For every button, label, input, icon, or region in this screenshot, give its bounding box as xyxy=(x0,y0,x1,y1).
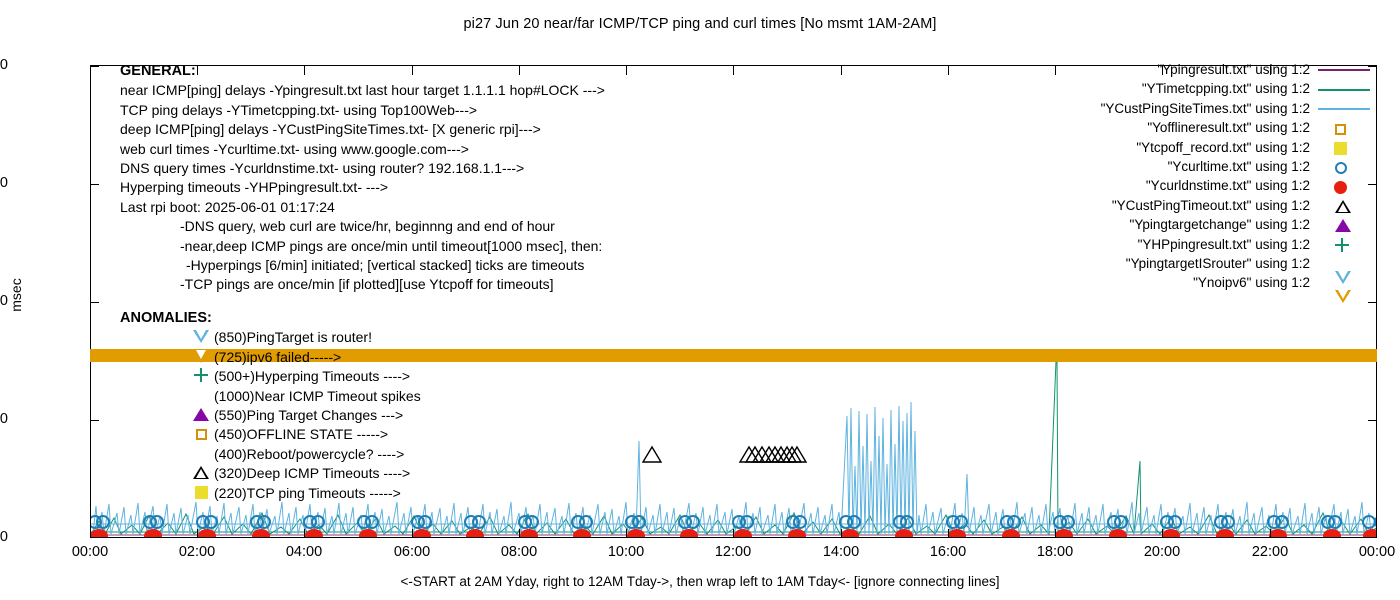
y-tick-2000: 2000 xyxy=(0,57,8,73)
filled-triangle-up-purple-icon xyxy=(188,407,214,426)
x-tickmark-6 xyxy=(733,529,734,538)
legend-label: "Ypingresult.txt" using 1:2 xyxy=(1157,60,1310,79)
open-triangle-down-orange-icon xyxy=(1310,273,1376,292)
open-circle-blue-icon xyxy=(1310,157,1376,176)
general-line-0: near ICMP[ping] delays -Ypingresult.txt … xyxy=(120,81,605,100)
anomaly-row-hyperping-timeouts: (500+)Hyperping Timeouts ----> xyxy=(120,367,421,386)
x-tickmark-11 xyxy=(1270,529,1271,538)
y-tick-1500: 1500 xyxy=(0,175,8,191)
anomaly-label: (320)Deep ICMP Timeouts ----> xyxy=(214,464,410,483)
x-tick-label-12: 00:00 xyxy=(1337,544,1400,560)
legend-item-ycustpingtimeout[interactable]: "YCustPingTimeout.txt" using 1:2 xyxy=(1046,196,1376,215)
legend-item-ynoipv6[interactable]: "Ynoipv6" using 1:2 xyxy=(1046,273,1376,292)
x-tickmark-top-5 xyxy=(626,66,627,75)
anomaly-label: (450)OFFLINE STATE -----> xyxy=(214,425,388,444)
open-triangle-down-blue-icon xyxy=(1310,254,1376,273)
anomaly-row-near-icmp-spikes: (1000)Near ICMP Timeout spikes xyxy=(120,387,421,406)
legend-item-ypingtargetchange[interactable]: "Ypingtargetchange" using 1:2 xyxy=(1046,215,1376,234)
x-tickmark-0 xyxy=(90,529,91,538)
anomaly-row-pingtarget-router: (850)PingTarget is router! xyxy=(120,328,421,347)
legend-label: "Ynoipv6" using 1:2 xyxy=(1193,273,1310,292)
legend-label: "YCustPingSiteTimes.txt" using 1:2 xyxy=(1101,99,1310,118)
legend-label: "YHPpingresult.txt" using 1:2 xyxy=(1138,235,1310,254)
anomaly-row-ipv6-failed: (725)ipv6 failed-----> xyxy=(120,348,421,367)
x-tick-label-4: 08:00 xyxy=(479,544,559,560)
anomaly-label: (220)TCP ping Timeouts -----> xyxy=(214,484,401,503)
anomaly-label: (500+)Hyperping Timeouts ----> xyxy=(214,367,410,386)
legend-label: "Ycurltime.txt" using 1:2 xyxy=(1168,157,1310,176)
x-tickmark-5 xyxy=(626,529,627,538)
legend-item-ytimetcpping[interactable]: "YTimetcpping.txt" using 1:2 xyxy=(1046,79,1376,98)
legend-item-ypingtargetisrouter[interactable]: "YpingtargetISrouter" using 1:2 xyxy=(1046,254,1376,273)
x-tick-label-5: 10:00 xyxy=(586,544,666,560)
legend-item-ycustpingsitetimes[interactable]: "YCustPingSiteTimes.txt" using 1:2 xyxy=(1046,99,1376,118)
plus-icon xyxy=(188,368,214,387)
anomaly-label: (1000)Near ICMP Timeout spikes xyxy=(214,387,421,406)
x-tickmark-top-7 xyxy=(841,66,842,75)
y-tick-1000: 1000 xyxy=(0,293,8,309)
x-tick-label-6: 12:00 xyxy=(693,544,773,560)
filled-circle-red-icon xyxy=(1310,177,1376,196)
filled-triangle-up-purple-icon xyxy=(1310,215,1376,234)
legend-item-ycurltime[interactable]: "Ycurltime.txt" using 1:2 xyxy=(1046,157,1376,176)
y-tick-0: 0 xyxy=(0,529,8,545)
x-tickmark-10 xyxy=(1162,529,1163,538)
general-indented-2: -Hyperpings [6/min] initiated; [vertical… xyxy=(120,256,605,275)
x-tick-label-2: 04:00 xyxy=(264,544,344,560)
y-axis-label: msec xyxy=(8,265,24,325)
general-indented-1: -near,deep ICMP pings are once/min until… xyxy=(120,237,605,256)
series-ycustpingtimeout xyxy=(643,447,806,462)
x-tick-label-3: 06:00 xyxy=(372,544,452,560)
legend-item-ycurldnstime[interactable]: "Ycurldnstime.txt" using 1:2 xyxy=(1046,176,1376,195)
anomalies-heading: ANOMALIES: xyxy=(120,309,421,328)
legend-label: "Yofflineresult.txt" using 1:2 xyxy=(1147,118,1310,137)
x-tickmark-3 xyxy=(412,529,413,538)
legend-item-yofflineresult[interactable]: "Yofflineresult.txt" using 1:2 xyxy=(1046,118,1376,137)
x-tickmark-7 xyxy=(841,529,842,538)
general-line-4: DNS query times -Ycurldnstime.txt- using… xyxy=(120,159,605,178)
anomaly-row-tcp-ping-timeouts: (220)TCP ping Timeouts -----> xyxy=(120,484,421,503)
anomaly-label: (850)PingTarget is router! xyxy=(214,328,372,347)
x-tick-label-9: 18:00 xyxy=(1015,544,1095,560)
chart-title: pi27 Jun 20 near/far ICMP/TCP ping and c… xyxy=(0,16,1400,32)
anomaly-label: (400)Reboot/powercycle? ----> xyxy=(214,445,404,464)
general-notes-block: GENERAL: near ICMP[ping] delays -Ypingre… xyxy=(120,62,605,295)
legend-label: "Ypingtargetchange" using 1:2 xyxy=(1130,215,1310,234)
general-line-2: deep ICMP[ping] delays -YCustPingSiteTim… xyxy=(120,120,605,139)
general-heading: GENERAL: xyxy=(120,62,605,81)
legend-label: "Ytcpoff_record.txt" using 1:2 xyxy=(1136,138,1310,157)
anomaly-row-offline-state: (450)OFFLINE STATE -----> xyxy=(120,425,421,444)
x-tickmark-top-6 xyxy=(733,66,734,75)
chart-legend: "Ypingresult.txt" using 1:2 "YTimetcppin… xyxy=(1046,60,1376,293)
y-tick-500: 500 xyxy=(0,411,8,427)
open-square-orange-icon xyxy=(1310,118,1376,137)
x-tick-label-0: 00:00 xyxy=(50,544,130,560)
general-line-6: Last rpi boot: 2025-06-01 01:17:24 xyxy=(120,198,605,217)
filled-square-yellow-icon xyxy=(1310,138,1376,157)
legend-item-ytcpoff-record[interactable]: "Ytcpoff_record.txt" using 1:2 xyxy=(1046,138,1376,157)
legend-label: "YpingtargetISrouter" using 1:2 xyxy=(1126,254,1310,273)
general-indented-0: -DNS query, web curl are twice/hr, begin… xyxy=(120,217,605,236)
x-tickmark-4 xyxy=(519,529,520,538)
legend-line-teal-icon xyxy=(1310,80,1376,99)
anomaly-row-reboot-powercycle: (400)Reboot/powercycle? ----> xyxy=(120,445,421,464)
general-line-5: Hyperping timeouts -YHPpingresult.txt- -… xyxy=(120,178,605,197)
x-tick-label-1: 02:00 xyxy=(157,544,237,560)
open-triangle-down-blue-icon xyxy=(188,329,214,348)
legend-label: "YCustPingTimeout.txt" using 1:2 xyxy=(1112,196,1310,215)
x-tickmark-9 xyxy=(1055,529,1056,538)
anomaly-row-deep-icmp-timeouts: (320)Deep ICMP Timeouts ----> xyxy=(120,464,421,483)
general-indented-3: -TCP pings are once/min [if plotted][use… xyxy=(120,275,605,294)
x-tick-label-10: 20:00 xyxy=(1122,544,1202,560)
x-tick-label-7: 14:00 xyxy=(801,544,881,560)
open-triangle-up-black-icon xyxy=(188,465,214,484)
legend-item-yhppingresult[interactable]: "YHPpingresult.txt" using 1:2 xyxy=(1046,235,1376,254)
x-tick-label-8: 16:00 xyxy=(908,544,988,560)
legend-line-lightblue-icon xyxy=(1310,99,1376,118)
x-tickmark-1 xyxy=(197,529,198,538)
x-tickmark-8 xyxy=(948,529,949,538)
legend-item-ypingresult[interactable]: "Ypingresult.txt" using 1:2 xyxy=(1046,60,1376,79)
open-square-orange-icon xyxy=(188,426,214,445)
general-line-3: web curl times -Ycurltime.txt- using www… xyxy=(120,140,605,159)
x-tick-label-11: 22:00 xyxy=(1230,544,1310,560)
open-triangle-up-black-icon xyxy=(1310,196,1376,215)
legend-label: "YTimetcpping.txt" using 1:2 xyxy=(1142,79,1310,98)
x-tickmark-2 xyxy=(304,529,305,538)
open-triangle-down-orange-icon xyxy=(188,349,214,368)
plus-icon xyxy=(1310,235,1376,254)
x-tickmark-top-8 xyxy=(948,66,949,75)
general-line-1: TCP ping delays -YTimetcpping.txt- using… xyxy=(120,101,605,120)
anomalies-block: ANOMALIES: (850)PingTarget is router! (7… xyxy=(120,309,421,503)
legend-line-purple-icon xyxy=(1310,60,1376,79)
anomaly-label: (725)ipv6 failed-----> xyxy=(214,348,341,367)
anomaly-label: (550)Ping Target Changes ---> xyxy=(214,406,403,425)
anomaly-row-ping-target-changes: (550)Ping Target Changes ---> xyxy=(120,406,421,425)
filled-square-yellow-icon xyxy=(188,485,214,504)
x-axis-caption: <-START at 2AM Yday, right to 12AM Tday-… xyxy=(0,574,1400,589)
legend-label: "Ycurldnstime.txt" using 1:2 xyxy=(1146,176,1310,195)
